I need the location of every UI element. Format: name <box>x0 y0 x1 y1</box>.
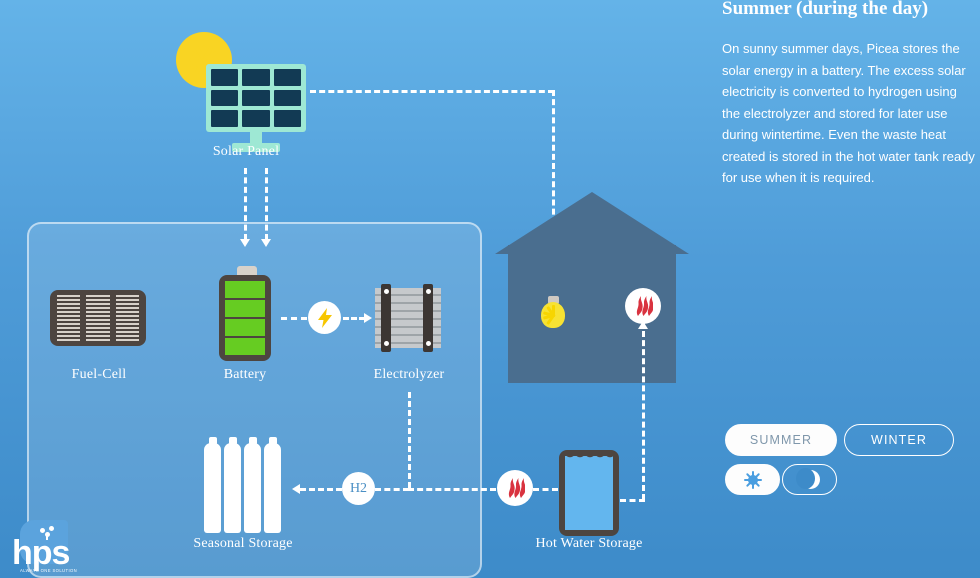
fuel-cell-stack <box>57 295 80 341</box>
flow-h2-to-storage <box>300 488 342 491</box>
picea-energy-flow-diagram: Solar Panel Fuel-Cell Battery <box>0 0 980 578</box>
season-button-summer[interactable]: SUMMER <box>725 424 837 456</box>
molecule-atom <box>40 528 45 533</box>
hot-water-storage-label: Hot Water Storage <box>524 536 654 552</box>
battery-level-bar <box>225 338 265 355</box>
solar-panel-label: Solar Panel <box>207 144 285 160</box>
tank-water-level <box>565 456 613 530</box>
flow-electrolyzer-down <box>408 392 411 488</box>
daytime-toggle-button[interactable] <box>725 464 780 495</box>
solar-cell <box>242 90 269 107</box>
flow-arrow-storage <box>292 484 300 494</box>
solar-cell <box>211 110 238 127</box>
flow-arrow-electrolyzer <box>364 313 372 323</box>
fuel-cell-stack <box>116 295 139 341</box>
flow-solar-to-battery-a <box>244 168 247 240</box>
seasonal-storage-label: Seasonal Storage <box>178 536 308 552</box>
season-button-winter-label: WINTER <box>871 433 927 447</box>
solar-cell <box>274 90 301 107</box>
flow-solar-to-battery-b <box>265 168 268 240</box>
gas-cylinder <box>224 443 241 533</box>
season-button-summer-label: SUMMER <box>750 433 812 447</box>
battery-level-bar <box>225 281 265 298</box>
flow-tank-to-house-vertical <box>642 322 645 500</box>
hps-logo[interactable]: hps ALWAYS ONE SOLUTION <box>6 518 80 576</box>
flow-arrow-solar-a <box>240 239 250 247</box>
electricity-badge <box>308 301 341 334</box>
moon-icon <box>799 469 821 491</box>
hydrogen-badge-label: H2 <box>350 481 367 497</box>
electrolyzer-icon[interactable] <box>375 288 441 348</box>
gas-cylinder <box>264 443 281 533</box>
solar-cell <box>211 90 238 107</box>
solar-cell <box>242 69 269 86</box>
hydrogen-badge: H2 <box>342 472 375 505</box>
heat-badge-tank <box>497 470 533 506</box>
fuel-cell-label: Fuel-Cell <box>54 367 144 383</box>
solar-panel-icon <box>206 64 306 132</box>
season-button-winter[interactable]: WINTER <box>844 424 954 456</box>
fuel-cell-icon[interactable] <box>50 290 146 346</box>
electrolyzer-terminal <box>426 341 431 346</box>
electrolyzer-electrode <box>423 284 433 352</box>
electrolyzer-terminal <box>384 289 389 294</box>
gas-cylinder <box>204 443 221 533</box>
nighttime-toggle-button[interactable] <box>782 464 837 495</box>
battery-level-bar <box>225 319 265 336</box>
logo-tagline: ALWAYS ONE SOLUTION <box>20 568 77 573</box>
solar-cell <box>242 110 269 127</box>
electrolyzer-label: Electrolyzer <box>365 367 453 383</box>
flow-tank-to-house-horizontal <box>620 499 645 502</box>
tank-water-surface <box>565 456 613 460</box>
flow-arrow-house-heat <box>638 321 648 329</box>
solar-cell <box>274 110 301 127</box>
lightbulb-ray <box>552 305 555 317</box>
flow-arrow-solar-b <box>261 239 271 247</box>
electrolyzer-electrode <box>381 284 391 352</box>
hot-water-storage-icon[interactable] <box>559 450 619 536</box>
page-title: Summer (during the day) <box>722 0 972 20</box>
flow-bolt-to-electrolyzer <box>343 317 365 320</box>
lightbulb-icon <box>538 296 568 336</box>
flow-electrolyzer-to-heat <box>408 488 496 491</box>
solar-cell <box>274 69 301 86</box>
flow-solar-to-house-horizontal <box>310 90 554 93</box>
battery-label: Battery <box>206 367 284 383</box>
molecule-atom <box>49 526 54 531</box>
flow-to-h2-badge <box>375 488 409 491</box>
seasonal-storage-icon[interactable] <box>204 443 282 533</box>
solar-cell <box>211 69 238 86</box>
flow-battery-to-bolt <box>281 317 307 320</box>
electrolyzer-terminal <box>426 289 431 294</box>
flow-heat-to-tank <box>533 488 558 491</box>
gas-cylinder <box>244 443 261 533</box>
battery-level-bar <box>225 300 265 317</box>
info-description: On sunny summer days, Picea stores the s… <box>722 38 976 189</box>
fuel-cell-stack <box>86 295 109 341</box>
electrolyzer-terminal <box>384 341 389 346</box>
sun-icon <box>742 469 764 491</box>
heat-badge-house <box>625 288 661 324</box>
battery-icon[interactable] <box>219 275 271 361</box>
